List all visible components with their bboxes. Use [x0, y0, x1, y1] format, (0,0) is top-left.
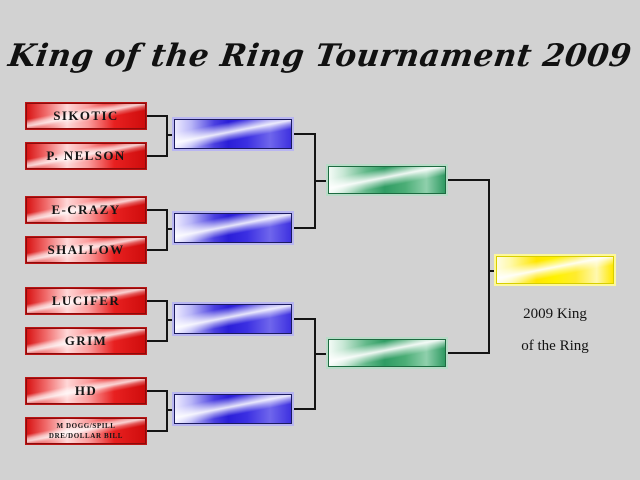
bracket-slot-quarterfinal-4[interactable] [174, 394, 292, 424]
connector-r1-pair2-out [166, 228, 174, 230]
bracket-slot-mdogg-spill-dre-dollar-bill[interactable]: M DOGG/SPILL DRE/DOLLAR BILL [26, 418, 146, 444]
connector-r1-s7 [146, 390, 168, 392]
box-sheen [174, 119, 292, 149]
champion-caption-line-1: 2009 King [475, 306, 635, 323]
bracket-slot-p-nelson[interactable]: P. NELSON [26, 143, 146, 169]
connector-r3-s1 [446, 179, 490, 181]
connector-r2-s1 [292, 133, 316, 135]
connector-final-vertical [488, 179, 490, 354]
box-sheen [174, 394, 292, 424]
connector-r1-s5 [146, 300, 168, 302]
connector-r1-s2 [146, 155, 168, 157]
connector-r1-pair1-out [166, 134, 174, 136]
bracket-canvas: King of the Ring Tournament 2009 SIKOTIC… [0, 0, 640, 480]
bracket-slot-semifinal-1[interactable] [328, 166, 446, 194]
box-sheen [174, 213, 292, 243]
connector-r1-pair4-out [166, 409, 174, 411]
connector-r2-s2 [292, 227, 316, 229]
connector-r1-pair3-vertical [166, 300, 168, 342]
connector-r2-lower-vertical [314, 318, 316, 410]
connector-r1-s8 [146, 430, 168, 432]
champion-caption-line-2: of the Ring [475, 338, 635, 355]
bracket-slot-label: SHALLOW [27, 243, 145, 257]
connector-r1-s6 [146, 340, 168, 342]
bracket-slot-hd[interactable]: HD [26, 378, 146, 404]
bracket-slot-quarterfinal-2[interactable] [174, 213, 292, 243]
bracket-slot-label: M DOGG/SPILL DRE/DOLLAR BILL [27, 421, 145, 441]
bracket-slot-grim[interactable]: GRIM [26, 328, 146, 354]
bracket-slot-quarterfinal-3[interactable] [174, 304, 292, 334]
bracket-slot-label: HD [27, 384, 145, 398]
bracket-slot-semifinal-2[interactable] [328, 339, 446, 367]
box-sheen [496, 256, 614, 284]
connector-r2-s3 [292, 318, 316, 320]
connector-r1-pair3-out [166, 319, 174, 321]
bracket-slot-e-crazy[interactable]: E-CRAZY [26, 197, 146, 223]
box-sheen [328, 166, 446, 194]
bracket-slot-label: P. NELSON [27, 149, 145, 163]
connector-r1-s3 [146, 209, 168, 211]
bracket-slot-label: GRIM [27, 334, 145, 348]
bracket-slot-lucifer[interactable]: LUCIFER [26, 288, 146, 314]
bracket-slot-label: LUCIFER [27, 294, 145, 308]
connector-r1-s1 [146, 115, 168, 117]
box-sheen [328, 339, 446, 367]
connector-r1-pair1-vertical [166, 115, 168, 157]
connector-r2-s4 [292, 408, 316, 410]
bracket-slot-label: SIKOTIC [27, 109, 145, 123]
box-sheen [174, 304, 292, 334]
connector-r1-pair4-vertical [166, 390, 168, 432]
bracket-slot-champion[interactable] [496, 256, 614, 284]
page-title: King of the Ring Tournament 2009 [0, 38, 640, 74]
bracket-slot-shallow[interactable]: SHALLOW [26, 237, 146, 263]
connector-r1-pair2-vertical [166, 209, 168, 251]
bracket-slot-label: E-CRAZY [27, 203, 145, 217]
connector-r1-s4 [146, 249, 168, 251]
bracket-slot-quarterfinal-1[interactable] [174, 119, 292, 149]
bracket-slot-sikotic[interactable]: SIKOTIC [26, 103, 146, 129]
